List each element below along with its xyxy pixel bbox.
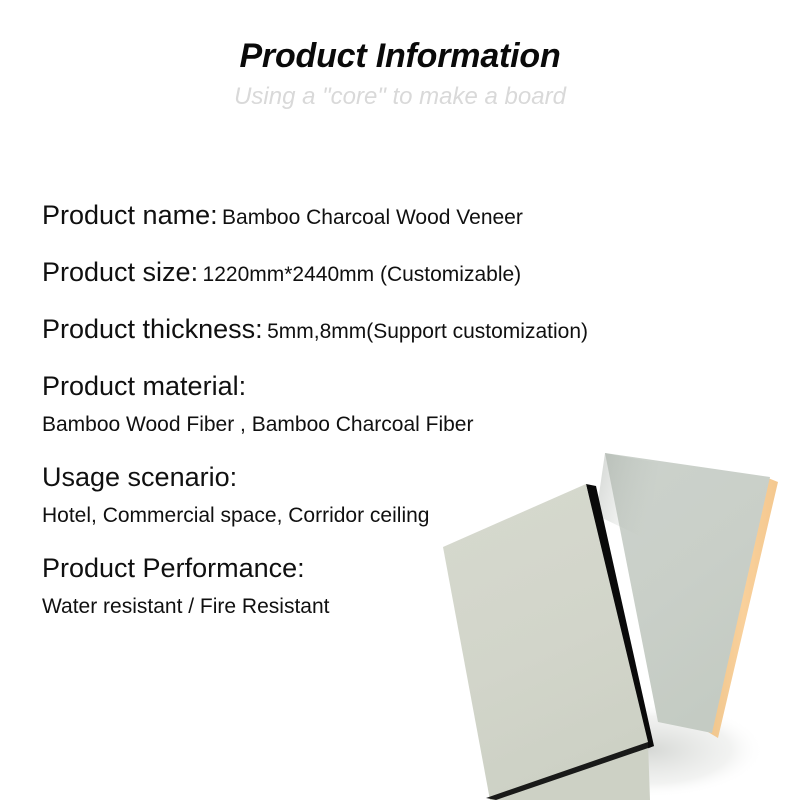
spec-label-product-size: Product size: (42, 257, 198, 287)
spec-label-product-material: Product material: (42, 371, 246, 401)
spec-row-product-name: Product name: Bamboo Charcoal Wood Venee… (42, 198, 762, 237)
spec-label-product-thickness: Product thickness: (42, 314, 263, 344)
page-subtitle: Using a "core" to make a board (0, 83, 800, 111)
page-title: Product Information (0, 36, 800, 76)
spec-value-product-thickness: 5mm,8mm(Support customization) (267, 320, 588, 343)
spec-label-usage-scenario: Usage scenario: (42, 462, 237, 492)
spec-row-product-size: Product size: 1220mm*2440mm (Customizabl… (42, 255, 762, 294)
spec-row-product-material: Product material: (42, 369, 762, 408)
spec-label-product-name: Product name: (42, 200, 218, 230)
spec-value-product-size: 1220mm*2440mm (Customizable) (203, 263, 522, 286)
spec-label-product-performance: Product Performance: (42, 553, 305, 583)
header: Product Information Using a "core" to ma… (0, 36, 800, 111)
product-information-page: Product Information Using a "core" to ma… (0, 0, 800, 800)
product-photo (400, 420, 800, 800)
spec-value-product-name: Bamboo Charcoal Wood Veneer (222, 206, 523, 229)
spec-row-product-thickness: Product thickness: 5mm,8mm(Support custo… (42, 312, 762, 351)
panel-cast-shadow (596, 453, 658, 540)
